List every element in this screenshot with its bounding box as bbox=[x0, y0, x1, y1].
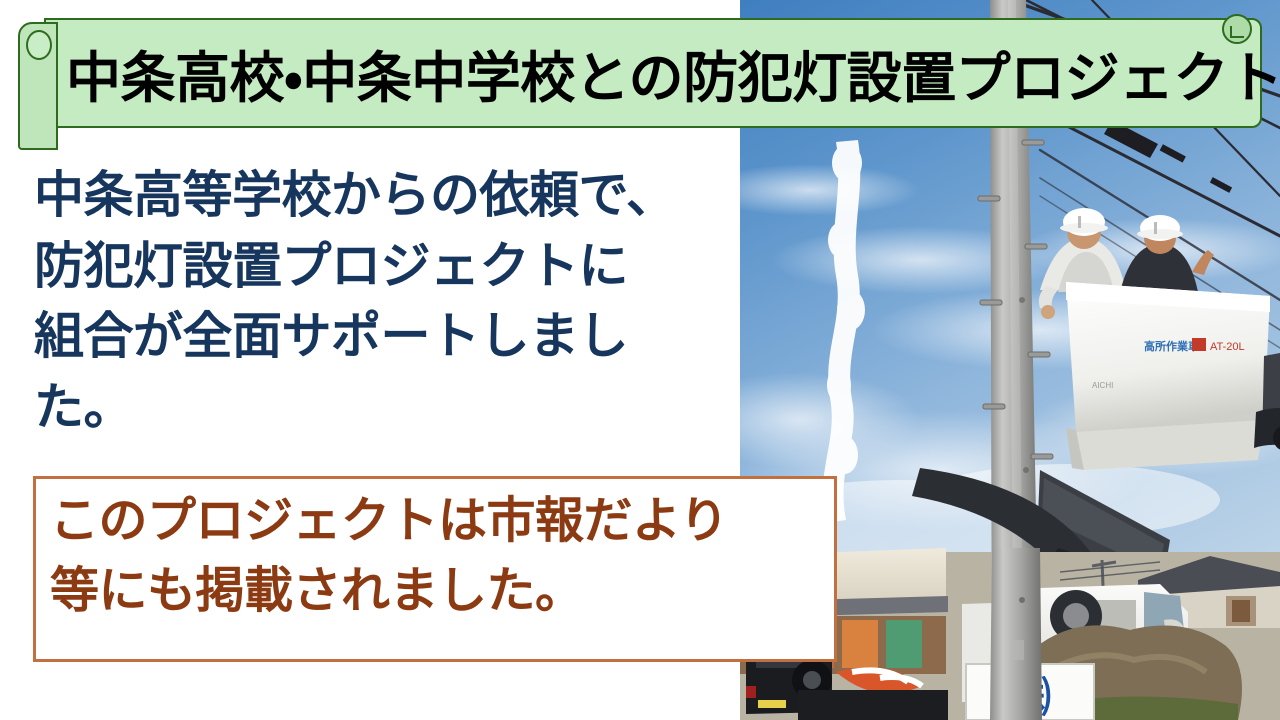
body-line: 中条高等学校からの依頼で、 bbox=[34, 160, 740, 231]
note-line: 等にも掲載されました。 bbox=[50, 557, 840, 627]
scroll-left-curl-icon bbox=[18, 22, 58, 150]
body-paragraph: 中条高等学校からの依頼で、 防犯灯設置プロジェクトに 組合が全面サポートしまし … bbox=[34, 160, 740, 442]
slide-canvas: 高所作業車 AT-20L AICHI bbox=[0, 0, 1280, 720]
svg-text:高所作業車: 高所作業車 bbox=[1144, 339, 1199, 353]
scroll-left-roll-icon bbox=[26, 30, 52, 60]
note-paragraph: このプロジェクトは市報だより 等にも掲載されました。 bbox=[50, 487, 840, 626]
title-banner: 中条高校・中条中学校との防犯灯設置プロジェクト bbox=[18, 18, 1262, 128]
svg-text:AICHI: AICHI bbox=[1092, 381, 1113, 390]
note-line: このプロジェクトは市報だより bbox=[50, 487, 840, 557]
page-title: 中条高校・中条中学校との防犯灯設置プロジェクト bbox=[66, 18, 1266, 128]
highlight-note-box: このプロジェクトは市報だより 等にも掲載されました。 bbox=[33, 476, 837, 662]
body-line: 組合が全面サポートしまし bbox=[34, 301, 740, 372]
svg-text:AT-20L: AT-20L bbox=[1210, 341, 1245, 353]
body-line: 防犯灯設置プロジェクトに bbox=[34, 231, 740, 302]
body-line: た。 bbox=[34, 372, 740, 443]
